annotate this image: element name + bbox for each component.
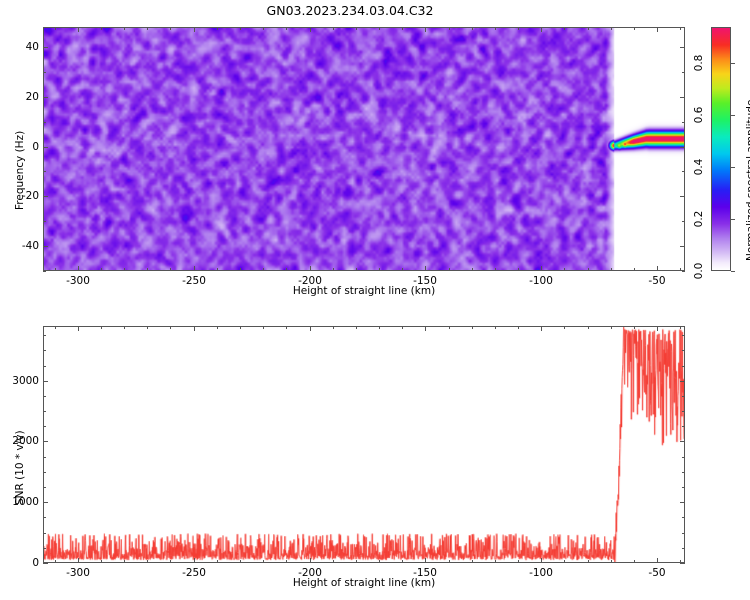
- x-minor-tick: [101, 27, 102, 30]
- y-minor-tick: [43, 122, 46, 123]
- y-tick-label: 40: [0, 41, 39, 53]
- x-minor-tick: [472, 268, 473, 271]
- y-tick: [680, 441, 685, 442]
- y-tick: [680, 246, 685, 247]
- x-minor-tick: [124, 27, 125, 30]
- x-minor-tick: [356, 560, 357, 563]
- x-minor-tick: [402, 268, 403, 271]
- x-tick: [78, 558, 79, 563]
- y-minor-tick: [43, 426, 46, 427]
- x-minor-tick: [217, 268, 218, 271]
- x-tick: [657, 558, 658, 563]
- x-tick: [78, 326, 79, 331]
- x-minor-tick: [217, 326, 218, 329]
- x-minor-tick: [495, 268, 496, 271]
- x-tick-label: -50: [648, 275, 665, 287]
- y-minor-tick: [43, 271, 46, 272]
- figure-title: GN03.2023.234.03.04.C32: [0, 3, 700, 18]
- colorbar-tick: [731, 271, 735, 272]
- x-tick-label: -250: [182, 275, 206, 287]
- x-minor-tick: [518, 326, 519, 329]
- x-tick: [194, 27, 195, 32]
- figure-root: GN03.2023.234.03.04.C32 -300-250-200-150…: [0, 0, 750, 600]
- x-minor-tick: [379, 268, 380, 271]
- x-minor-tick: [263, 560, 264, 563]
- x-minor-tick: [263, 27, 264, 30]
- y-minor-tick: [43, 350, 46, 351]
- y-tick-label: 0: [0, 557, 39, 569]
- x-tick: [78, 27, 79, 32]
- x-minor-tick: [379, 27, 380, 30]
- colorbar-label: Normalized spectral amplitude: [745, 100, 750, 261]
- y-minor-tick: [43, 457, 46, 458]
- y-minor-tick: [682, 533, 685, 534]
- x-tick: [541, 326, 542, 331]
- x-tick: [425, 558, 426, 563]
- x-minor-tick: [286, 268, 287, 271]
- colorbar-tick: [731, 63, 735, 64]
- y-tick: [43, 441, 48, 442]
- x-minor-tick: [472, 560, 473, 563]
- x-minor-tick: [634, 268, 635, 271]
- x-minor-tick: [495, 560, 496, 563]
- colorbar-tick-label: 0.6: [693, 107, 705, 124]
- spectrogram-xlabel: Height of straight line (km): [293, 285, 435, 297]
- x-tick: [310, 266, 311, 271]
- x-minor-tick: [263, 268, 264, 271]
- x-tick: [310, 558, 311, 563]
- y-minor-tick: [682, 72, 685, 73]
- colorbar-tick-label: 0.0: [693, 263, 705, 280]
- x-tick: [194, 558, 195, 563]
- y-tick: [43, 47, 48, 48]
- y-minor-tick: [682, 271, 685, 272]
- y-minor-tick: [682, 517, 685, 518]
- x-minor-tick: [611, 268, 612, 271]
- x-minor-tick: [634, 326, 635, 329]
- x-minor-tick: [147, 268, 148, 271]
- x-tick-label: -300: [66, 567, 90, 579]
- y-minor-tick: [682, 396, 685, 397]
- colorbar-tick-label: 0.2: [693, 211, 705, 228]
- x-minor-tick: [333, 268, 334, 271]
- x-minor-tick: [55, 326, 56, 329]
- x-minor-tick: [147, 326, 148, 329]
- x-minor-tick: [217, 560, 218, 563]
- y-tick: [680, 196, 685, 197]
- y-tick: [43, 246, 48, 247]
- x-minor-tick: [449, 326, 450, 329]
- y-minor-tick: [682, 472, 685, 473]
- x-minor-tick: [170, 27, 171, 30]
- x-minor-tick: [564, 268, 565, 271]
- y-tick: [680, 97, 685, 98]
- x-minor-tick: [564, 560, 565, 563]
- x-minor-tick: [170, 268, 171, 271]
- x-tick-label: -100: [529, 567, 553, 579]
- spectrogram-axes: [43, 27, 685, 271]
- y-minor-tick: [43, 517, 46, 518]
- x-minor-tick: [55, 268, 56, 271]
- y-tick: [43, 381, 48, 382]
- x-minor-tick: [680, 326, 681, 329]
- x-minor-tick: [217, 27, 218, 30]
- x-tick-label: -50: [648, 567, 665, 579]
- x-tick: [657, 27, 658, 32]
- y-minor-tick: [682, 426, 685, 427]
- x-minor-tick: [634, 560, 635, 563]
- y-minor-tick: [43, 533, 46, 534]
- x-minor-tick: [240, 560, 241, 563]
- x-minor-tick: [495, 27, 496, 30]
- x-minor-tick: [333, 560, 334, 563]
- x-tick: [194, 326, 195, 331]
- x-minor-tick: [680, 27, 681, 30]
- x-minor-tick: [124, 326, 125, 329]
- colorbar-tick: [731, 219, 735, 220]
- y-tick: [43, 196, 48, 197]
- y-minor-tick: [43, 366, 46, 367]
- x-minor-tick: [240, 268, 241, 271]
- colorbar-tick-label: 0.8: [693, 55, 705, 72]
- x-minor-tick: [518, 268, 519, 271]
- x-minor-tick: [101, 268, 102, 271]
- y-minor-tick: [43, 171, 46, 172]
- x-minor-tick: [170, 326, 171, 329]
- y-minor-tick: [682, 487, 685, 488]
- x-tick: [541, 27, 542, 32]
- x-minor-tick: [147, 560, 148, 563]
- y-minor-tick: [682, 122, 685, 123]
- x-minor-tick: [356, 27, 357, 30]
- x-minor-tick: [147, 27, 148, 30]
- x-minor-tick: [611, 560, 612, 563]
- x-minor-tick: [449, 560, 450, 563]
- x-minor-tick: [680, 268, 681, 271]
- x-minor-tick: [518, 27, 519, 30]
- y-tick: [680, 381, 685, 382]
- y-minor-tick: [682, 335, 685, 336]
- y-minor-tick: [43, 472, 46, 473]
- x-minor-tick: [356, 268, 357, 271]
- x-minor-tick: [402, 27, 403, 30]
- x-tick: [194, 266, 195, 271]
- x-tick-label: -100: [529, 275, 553, 287]
- x-minor-tick: [564, 27, 565, 30]
- y-minor-tick: [682, 221, 685, 222]
- x-minor-tick: [101, 326, 102, 329]
- y-minor-tick: [682, 366, 685, 367]
- x-tick: [541, 558, 542, 563]
- x-minor-tick: [124, 560, 125, 563]
- x-minor-tick: [449, 27, 450, 30]
- x-minor-tick: [101, 560, 102, 563]
- x-tick: [541, 266, 542, 271]
- x-minor-tick: [240, 326, 241, 329]
- y-minor-tick: [43, 548, 46, 549]
- y-tick-label: 3000: [0, 375, 39, 387]
- x-minor-tick: [634, 27, 635, 30]
- x-minor-tick: [286, 27, 287, 30]
- x-minor-tick: [472, 326, 473, 329]
- x-minor-tick: [333, 326, 334, 329]
- x-minor-tick: [588, 268, 589, 271]
- x-minor-tick: [588, 27, 589, 30]
- y-tick: [680, 147, 685, 148]
- y-minor-tick: [682, 350, 685, 351]
- colorbar-tick: [731, 115, 735, 116]
- x-minor-tick: [170, 560, 171, 563]
- x-minor-tick: [333, 27, 334, 30]
- x-tick-label: -300: [66, 275, 90, 287]
- y-minor-tick: [43, 335, 46, 336]
- y-minor-tick: [682, 171, 685, 172]
- x-minor-tick: [402, 560, 403, 563]
- y-minor-tick: [43, 396, 46, 397]
- colorbar-tick-label: 0.4: [693, 159, 705, 176]
- x-minor-tick: [263, 326, 264, 329]
- y-tick: [43, 147, 48, 148]
- y-minor-tick: [43, 411, 46, 412]
- y-tick: [43, 502, 48, 503]
- x-minor-tick: [495, 326, 496, 329]
- x-tick: [657, 266, 658, 271]
- x-minor-tick: [356, 326, 357, 329]
- y-minor-tick: [682, 548, 685, 549]
- x-tick: [78, 266, 79, 271]
- x-minor-tick: [240, 27, 241, 30]
- spectrogram-canvas: [44, 28, 684, 270]
- x-minor-tick: [379, 326, 380, 329]
- snr-axes: [43, 326, 685, 563]
- colorbar-tick: [731, 167, 735, 168]
- x-minor-tick: [472, 27, 473, 30]
- y-minor-tick: [43, 221, 46, 222]
- x-tick: [310, 326, 311, 331]
- x-minor-tick: [286, 560, 287, 563]
- x-minor-tick: [402, 326, 403, 329]
- y-tick: [43, 563, 48, 564]
- y-minor-tick: [682, 411, 685, 412]
- colorbar-gradient: [712, 28, 730, 270]
- y-tick: [43, 97, 48, 98]
- snr-canvas: [44, 327, 684, 562]
- y-minor-tick: [43, 487, 46, 488]
- x-tick: [310, 27, 311, 32]
- y-tick: [680, 563, 685, 564]
- x-tick-label: -250: [182, 567, 206, 579]
- x-minor-tick: [518, 560, 519, 563]
- colorbar: [711, 27, 731, 271]
- x-tick: [657, 326, 658, 331]
- spectrogram-ylabel: Frequency (Hz): [14, 131, 26, 210]
- x-minor-tick: [611, 27, 612, 30]
- x-tick: [425, 266, 426, 271]
- y-minor-tick: [43, 72, 46, 73]
- y-tick: [680, 502, 685, 503]
- x-minor-tick: [124, 268, 125, 271]
- y-tick-label: -40: [0, 240, 39, 252]
- y-tick: [680, 47, 685, 48]
- y-minor-tick: [682, 457, 685, 458]
- snr-xlabel: Height of straight line (km): [293, 577, 435, 589]
- x-minor-tick: [55, 27, 56, 30]
- x-tick: [425, 326, 426, 331]
- snr-ylabel: SNR (10 * v/v): [14, 430, 26, 505]
- x-minor-tick: [55, 560, 56, 563]
- x-minor-tick: [564, 326, 565, 329]
- x-minor-tick: [286, 326, 287, 329]
- x-tick: [425, 27, 426, 32]
- x-minor-tick: [588, 326, 589, 329]
- x-minor-tick: [379, 560, 380, 563]
- x-minor-tick: [588, 560, 589, 563]
- x-minor-tick: [449, 268, 450, 271]
- x-minor-tick: [611, 326, 612, 329]
- y-tick-label: 20: [0, 91, 39, 103]
